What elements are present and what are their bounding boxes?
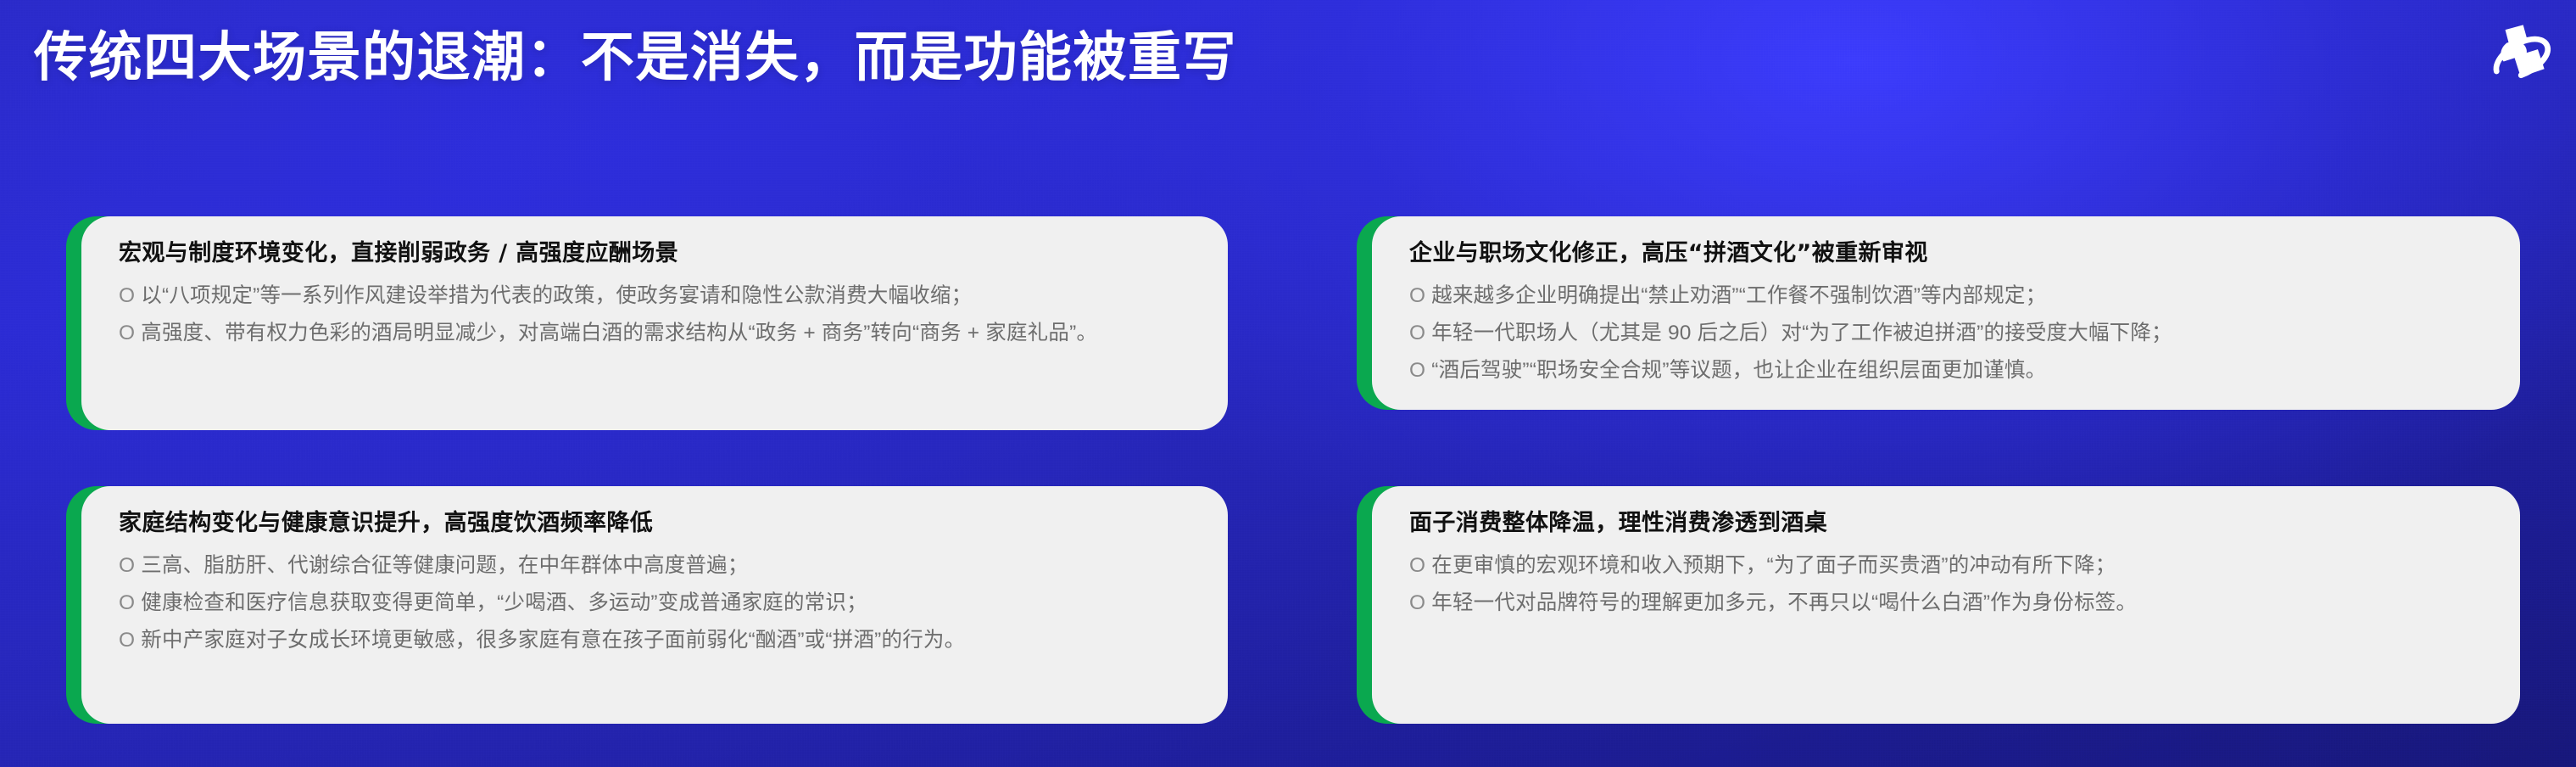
- page-title: 传统四大场景的退潮：不是消失，而是功能被重写: [34, 25, 2323, 90]
- list-item: O年轻一代对品牌符号的理解更加多元，不再只以“喝什么白酒”作为身份标签。: [1409, 585, 2483, 622]
- list-item: O健康检查和医疗信息获取变得更简单，“少喝酒、多运动”变成普通家庭的常识；: [119, 585, 1190, 622]
- list-item-text: 越来越多企业明确提出“禁止劝酒”“工作餐不强制饮酒”等内部规定；: [1431, 284, 2046, 307]
- list-item-text: 以“八项规定”等一系列作风建设举措为代表的政策，使政务宴请和隐性公款消费大幅收缩…: [141, 284, 972, 307]
- card-title: 面子消费整体降温，理性消费渗透到酒桌: [1409, 508, 2483, 539]
- list-item: O三高、脂肪肝、代谢综合征等健康问题，在中年群体中高度普遍；: [119, 547, 1190, 585]
- slide-root: 传统四大场景的退潮：不是消失，而是功能被重写 宏观与制度环境变化，直接削弱政务 …: [0, 0, 2576, 767]
- list-item: O在更审慎的宏观环境和收入预期下，“为了面子而买贵酒”的冲动有所下降；: [1409, 547, 2483, 585]
- bullet-mark: O: [1409, 277, 1425, 315]
- list-item: O“酒后驾驶”“职场安全合规”等议题，也让企业在组织层面更加谨慎。: [1409, 352, 2483, 389]
- card-bullet-list: O越来越多企业明确提出“禁止劝酒”“工作餐不强制饮酒”等内部规定； O年轻一代职…: [1409, 277, 2483, 389]
- list-item-text: 年轻一代对品牌符号的理解更加多元，不再只以“喝什么白酒”作为身份标签。: [1431, 591, 2137, 614]
- bullet-mark: O: [1409, 315, 1425, 352]
- list-item: O以“八项规定”等一系列作风建设举措为代表的政策，使政务宴请和隐性公款消费大幅收…: [119, 277, 1190, 315]
- card-family-health: 家庭结构变化与健康意识提升，高强度饮酒频率降低 O三高、脂肪肝、代谢综合征等健康…: [66, 486, 1228, 724]
- bullet-mark: O: [119, 277, 135, 315]
- card-title: 企业与职场文化修正，高压“拼酒文化”被重新审视: [1409, 238, 2483, 269]
- list-item: O新中产家庭对子女成长环境更敏感，很多家庭有意在孩子面前弱化“酗酒”或“拼酒”的…: [119, 622, 1190, 659]
- card-title: 家庭结构变化与健康意识提升，高强度饮酒频率降低: [119, 508, 1190, 539]
- list-item-text: 年轻一代职场人（尤其是 90 后之后）对“为了工作被迫拼酒”的接受度大幅下降；: [1431, 322, 2172, 344]
- bullet-mark: O: [1409, 547, 1425, 585]
- card-bullet-list: O在更审慎的宏观环境和收入预期下，“为了面子而买贵酒”的冲动有所下降； O年轻一…: [1409, 547, 2483, 622]
- card-macro-policy: 宏观与制度环境变化，直接削弱政务 / 高强度应酬场景 O以“八项规定”等一系列作…: [66, 216, 1228, 430]
- card-body-panel: 宏观与制度环境变化，直接削弱政务 / 高强度应酬场景 O以“八项规定”等一系列作…: [81, 216, 1228, 430]
- card-body-panel: 家庭结构变化与健康意识提升，高强度饮酒频率降低 O三高、脂肪肝、代谢综合征等健康…: [81, 486, 1228, 724]
- list-item: O越来越多企业明确提出“禁止劝酒”“工作餐不强制饮酒”等内部规定；: [1409, 277, 2483, 315]
- list-item-text: “酒后驾驶”“职场安全合规”等议题，也让企业在组织层面更加谨慎。: [1431, 359, 2046, 382]
- bottle-orbit-logo-icon: [2476, 12, 2557, 93]
- card-body-panel: 企业与职场文化修正，高压“拼酒文化”被重新审视 O越来越多企业明确提出“禁止劝酒…: [1372, 216, 2520, 410]
- card-title: 宏观与制度环境变化，直接削弱政务 / 高强度应酬场景: [119, 238, 1190, 269]
- card-workplace-culture: 企业与职场文化修正，高压“拼酒文化”被重新审视 O越来越多企业明确提出“禁止劝酒…: [1357, 216, 2520, 410]
- card-face-consumption: 面子消费整体降温，理性消费渗透到酒桌 O在更审慎的宏观环境和收入预期下，“为了面…: [1357, 486, 2520, 724]
- list-item-text: 在更审慎的宏观环境和收入预期下，“为了面子而买贵酒”的冲动有所下降；: [1431, 554, 2116, 577]
- card-body-panel: 面子消费整体降温，理性消费渗透到酒桌 O在更审慎的宏观环境和收入预期下，“为了面…: [1372, 486, 2520, 724]
- card-bullet-list: O以“八项规定”等一系列作风建设举措为代表的政策，使政务宴请和隐性公款消费大幅收…: [119, 277, 1190, 352]
- bullet-mark: O: [1409, 352, 1425, 389]
- list-item: O高强度、带有权力色彩的酒局明显减少，对高端白酒的需求结构从“政务 + 商务”转…: [119, 315, 1190, 352]
- bullet-mark: O: [1409, 585, 1425, 622]
- card-bullet-list: O三高、脂肪肝、代谢综合征等健康问题，在中年群体中高度普遍； O健康检查和医疗信…: [119, 547, 1190, 659]
- list-item-text: 三高、脂肪肝、代谢综合征等健康问题，在中年群体中高度普遍；: [141, 554, 748, 577]
- list-item: O年轻一代职场人（尤其是 90 后之后）对“为了工作被迫拼酒”的接受度大幅下降；: [1409, 315, 2483, 352]
- bullet-mark: O: [119, 315, 135, 352]
- list-item-text: 健康检查和医疗信息获取变得更简单，“少喝酒、多运动”变成普通家庭的常识；: [141, 591, 867, 614]
- list-item-text: 高强度、带有权力色彩的酒局明显减少，对高端白酒的需求结构从“政务 + 商务”转向…: [141, 322, 1097, 344]
- bullet-mark: O: [119, 547, 135, 585]
- bullet-mark: O: [119, 622, 135, 659]
- bullet-mark: O: [119, 585, 135, 622]
- list-item-text: 新中产家庭对子女成长环境更敏感，很多家庭有意在孩子面前弱化“酗酒”或“拼酒”的行…: [141, 629, 965, 652]
